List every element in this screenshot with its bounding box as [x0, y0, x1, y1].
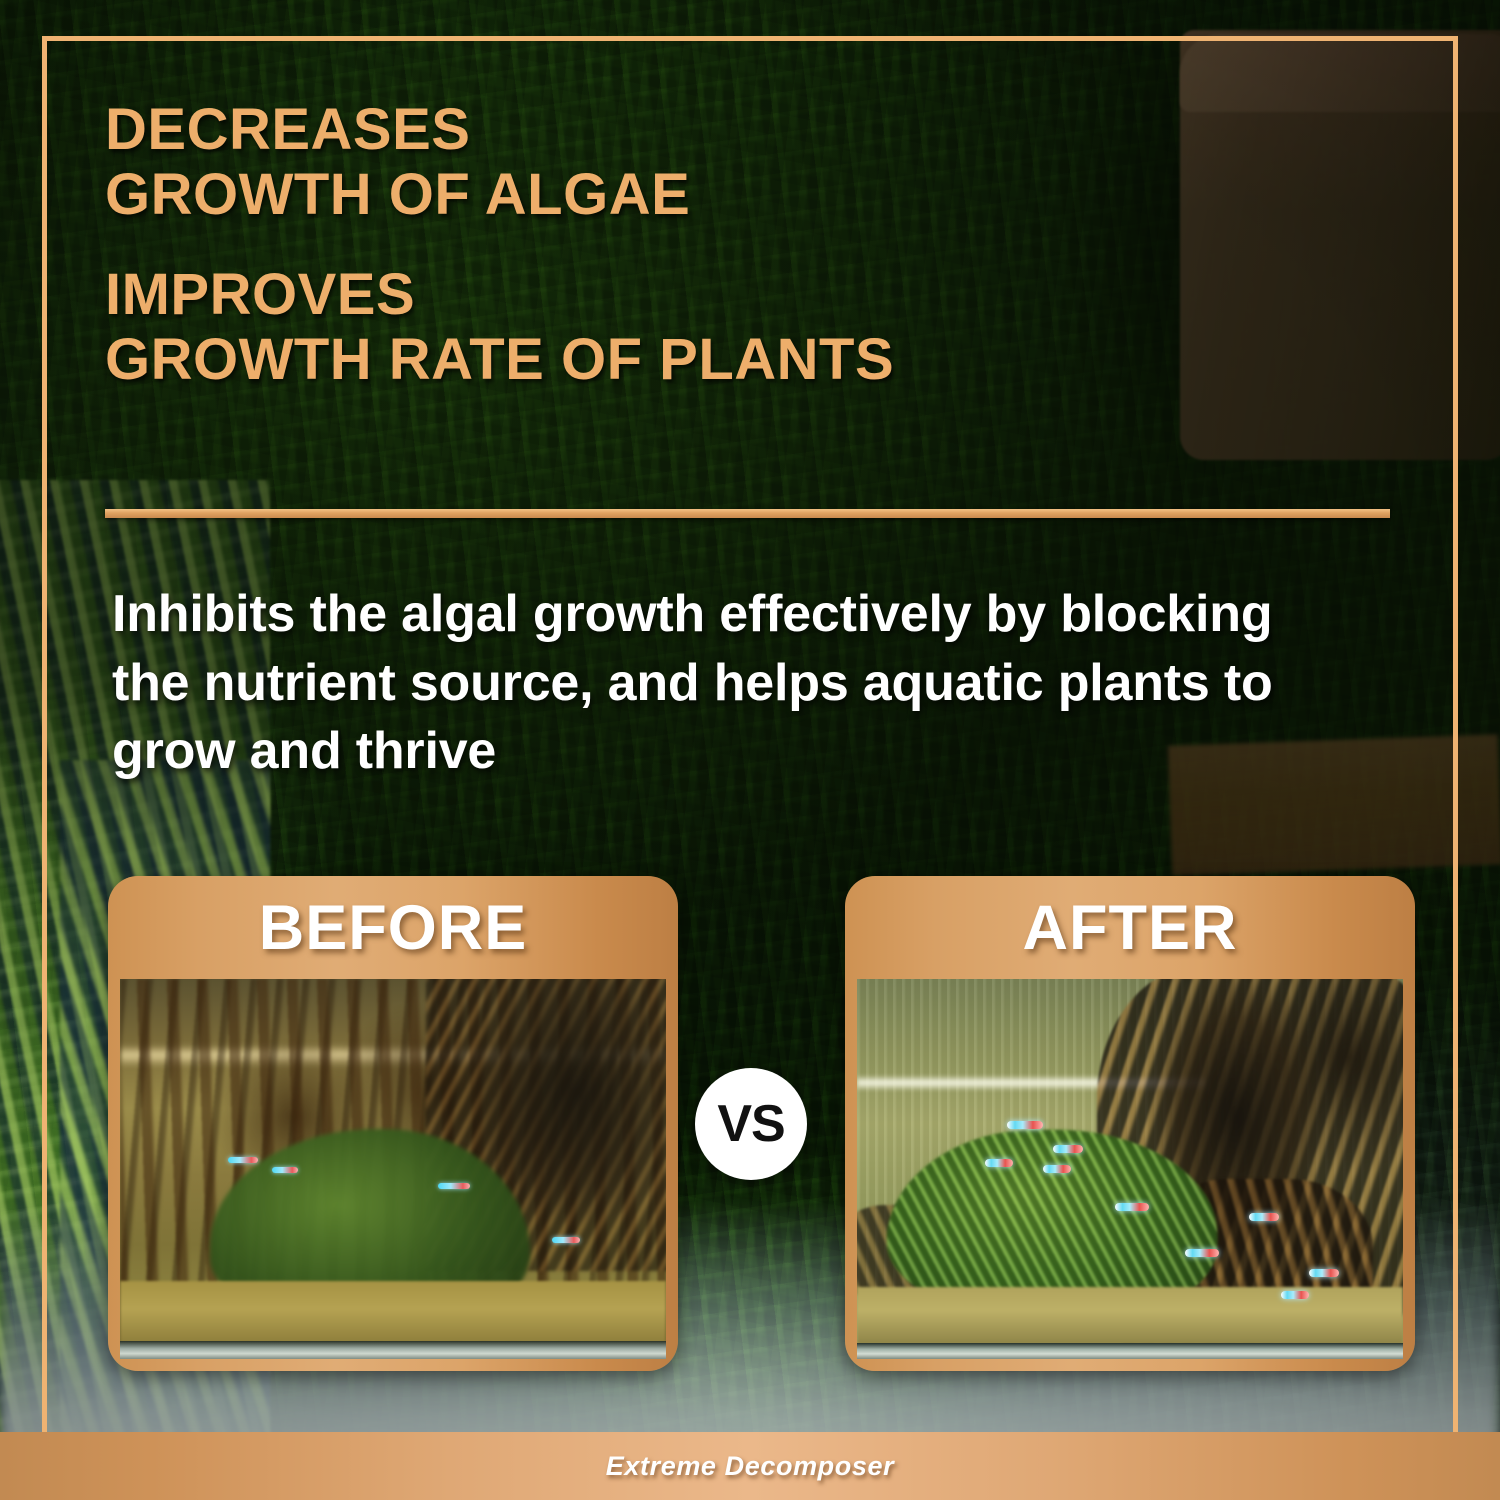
gold-divider-rule: [105, 509, 1390, 518]
product-name-label: Extreme Decomposer: [606, 1451, 894, 1482]
after-tank-fish: [1309, 1269, 1339, 1277]
infographic-canvas: DECREASES GROWTH OF ALGAE IMPROVES GROWT…: [0, 0, 1500, 1500]
after-tank-fish: [1043, 1165, 1071, 1173]
headline-spacer: [105, 227, 1255, 263]
before-tank-fish: [438, 1183, 470, 1189]
before-aquarium-photo: [120, 979, 666, 1359]
after-tank-fish: [1115, 1203, 1149, 1211]
before-tank-fish: [228, 1157, 258, 1163]
after-card-title: AFTER: [845, 892, 1415, 964]
after-tank-fish: [1281, 1291, 1309, 1299]
headline-line-2: GROWTH OF ALGAE: [105, 163, 1255, 228]
before-tank-bottom-rim: [120, 1341, 666, 1359]
footer-bar: Extreme Decomposer: [0, 1432, 1500, 1500]
after-tank-fish: [1007, 1121, 1043, 1129]
after-tank-fish: [1185, 1249, 1219, 1257]
after-tank-substrate: [857, 1287, 1403, 1345]
before-card-title: BEFORE: [108, 892, 678, 964]
after-tank-fish: [1053, 1145, 1083, 1153]
body-paragraph: Inhibits the algal growth effectively by…: [112, 580, 1342, 786]
headline-block: DECREASES GROWTH OF ALGAE IMPROVES GROWT…: [105, 98, 1255, 393]
gold-frame-left-extension: [42, 1376, 47, 1436]
headline-line-1: DECREASES: [105, 98, 1255, 163]
after-tank-bottom-rim: [857, 1343, 1403, 1359]
after-tank-fish: [1249, 1213, 1279, 1221]
before-comparison-card: BEFORE: [108, 876, 678, 1371]
before-tank-fish: [552, 1237, 580, 1243]
before-tank-substrate: [120, 1281, 666, 1343]
headline-line-4: GROWTH RATE OF PLANTS: [105, 328, 1255, 393]
gold-frame-right-extension: [1453, 1376, 1458, 1436]
before-tank-scene: [120, 979, 666, 1359]
after-aquarium-photo: [857, 979, 1403, 1359]
headline-line-3: IMPROVES: [105, 263, 1255, 328]
vs-badge-label: VS: [717, 1094, 784, 1154]
before-tank-fish: [272, 1167, 298, 1173]
after-tank-scene: [857, 979, 1403, 1359]
after-comparison-card: AFTER: [845, 876, 1415, 1371]
vs-badge: VS: [695, 1068, 807, 1180]
after-tank-fish: [985, 1159, 1013, 1167]
